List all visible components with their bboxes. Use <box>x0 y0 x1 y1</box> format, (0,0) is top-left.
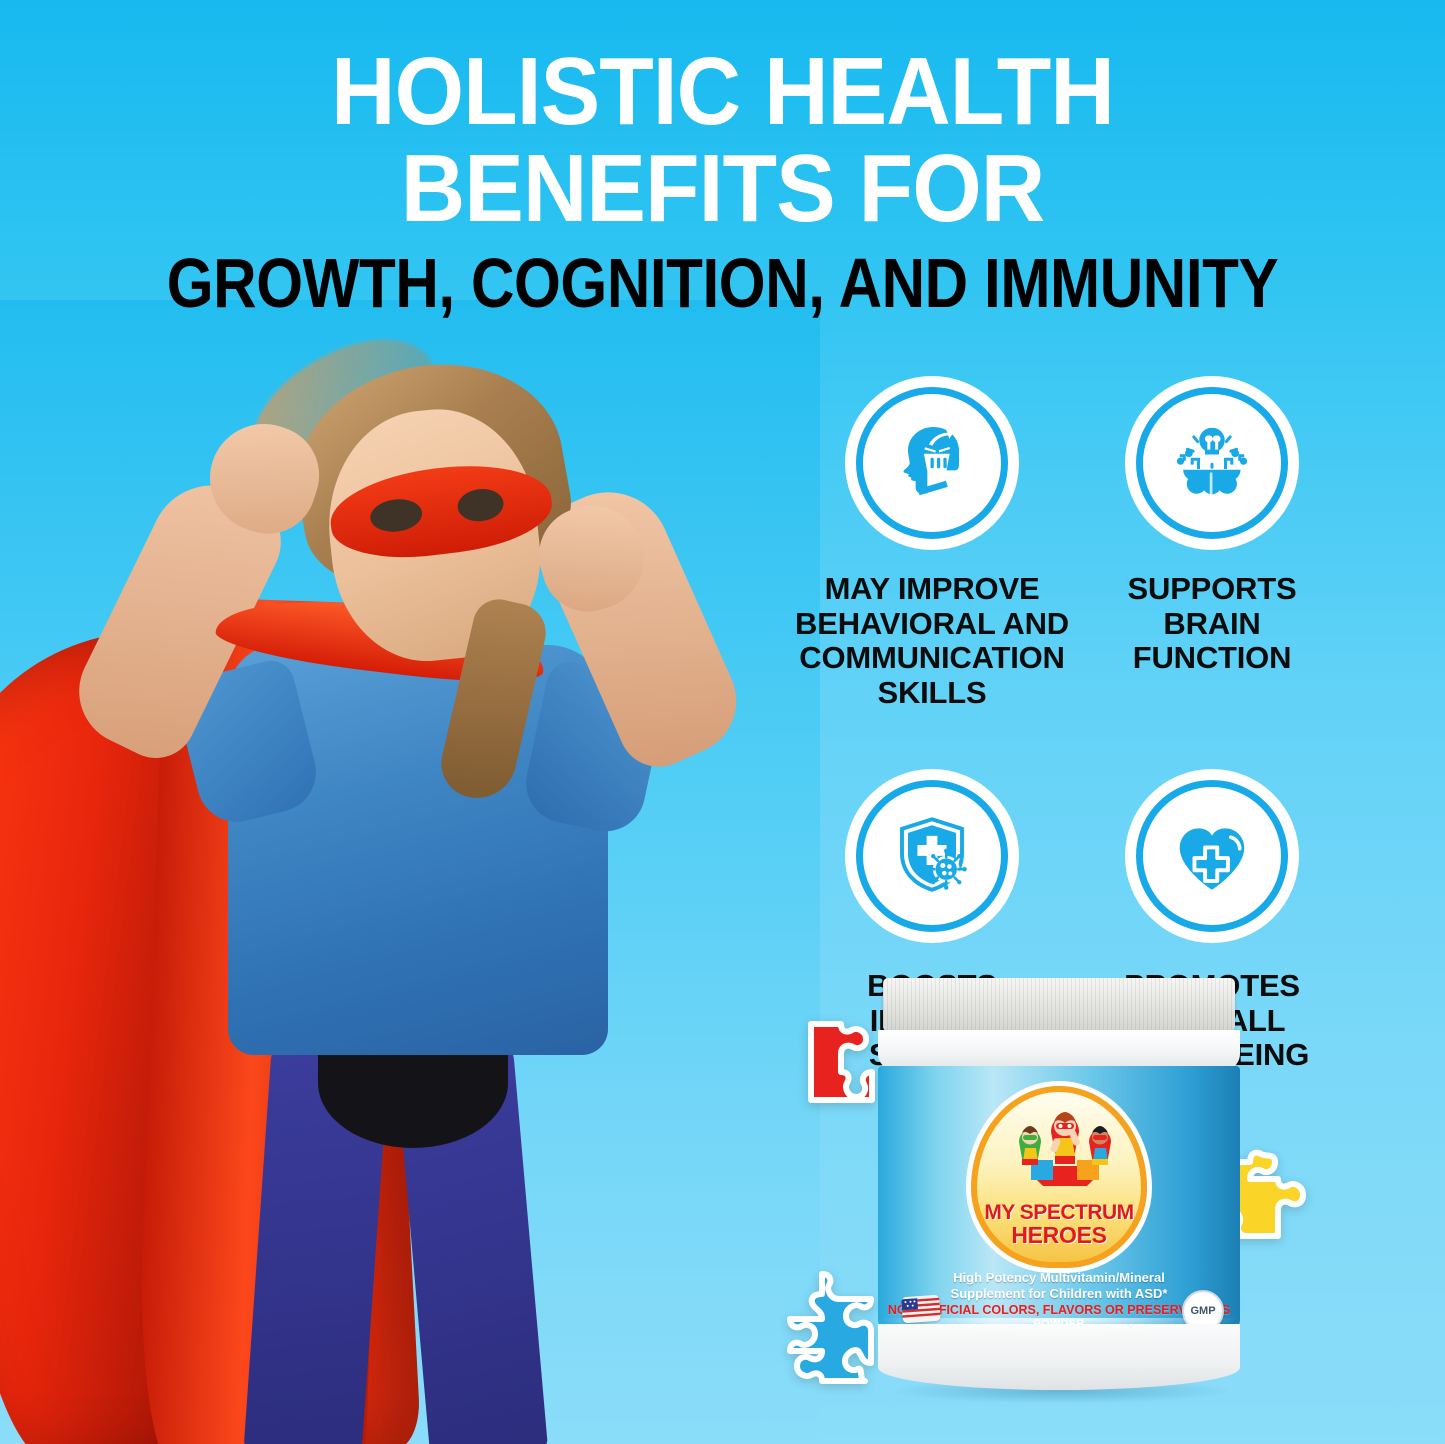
benefits-row-1: MAY IMPROVEBEHAVIORAL ANDCOMMUNICATION S… <box>792 376 1352 711</box>
jar-neck <box>878 1030 1240 1070</box>
logo-line-2: HEROES <box>1011 1223 1106 1248</box>
benefit-label: MAY IMPROVEBEHAVIORAL ANDCOMMUNICATION S… <box>792 572 1072 711</box>
benefit-label: SUPPORTSBRAINFUNCTION <box>1128 572 1297 676</box>
hero-photo-girl-superhero <box>0 300 820 1444</box>
benefit-item-brain[interactable]: SUPPORTSBRAINFUNCTION <box>1072 376 1352 711</box>
benefits-grid: MAY IMPROVEBEHAVIORAL ANDCOMMUNICATION S… <box>792 376 1352 1073</box>
product-logo-badge: MY SPECTRUM HEROES <box>971 1086 1147 1268</box>
product-jar[interactable]: MY SPECTRUM HEROES High Potency Multivit… <box>864 978 1254 1398</box>
head-basket-icon <box>884 415 980 511</box>
jar-lid <box>883 978 1235 1030</box>
heart-plus-icon <box>1164 808 1260 904</box>
benefit-badge <box>1125 769 1299 943</box>
shield-virus-icon <box>884 808 980 904</box>
brain-lightbulb-icon <box>1164 415 1260 511</box>
benefit-badge <box>845 376 1019 550</box>
headline-line-1: HOLISTIC HEALTH <box>51 46 1395 137</box>
mask-eye-left <box>368 496 424 534</box>
headline-block: HOLISTIC HEALTH BENEFITS FOR GROWTH, COG… <box>0 46 1445 318</box>
jar-base <box>878 1324 1240 1390</box>
mask-eye-right <box>456 486 506 523</box>
headline-line-2: BENEFITS FOR <box>51 143 1395 234</box>
superhero-kids-illustration <box>995 1104 1135 1200</box>
benefit-badge <box>1125 376 1299 550</box>
headline-subline: GROWTH, COGNITION, AND IMMUNITY <box>101 248 1344 318</box>
benefit-badge <box>845 769 1019 943</box>
label-description-line-1: High Potency Multivitamin/Mineral <box>878 1270 1240 1286</box>
benefit-item-behavioral[interactable]: MAY IMPROVEBEHAVIORAL ANDCOMMUNICATION S… <box>792 376 1072 711</box>
logo-line-1: MY SPECTRUM <box>984 1202 1133 1223</box>
